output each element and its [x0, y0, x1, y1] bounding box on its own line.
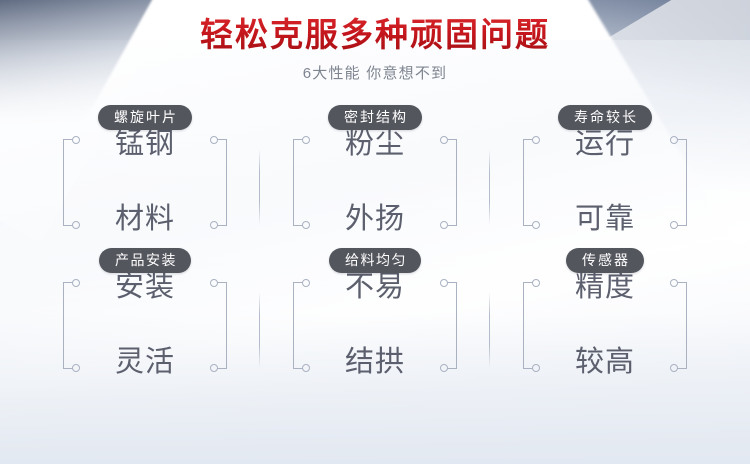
feature-badge-4: 产品安装: [99, 248, 191, 273]
bracket-right-icon: [439, 279, 457, 371]
feature-badge-5: 给料均匀: [329, 248, 421, 273]
header: 轻松克服多种顽固问题 6大性能 你意想不到: [0, 0, 750, 83]
feature-text-6-line2: 较高: [575, 344, 635, 382]
bracket-left-icon: [63, 279, 81, 371]
feature-text-6-line1: 精度: [575, 269, 635, 307]
feature-card-2: 密封结构 粉尘 外扬: [260, 105, 490, 248]
bracket-right-icon: [209, 136, 227, 228]
feature-card-5: 给料均匀 不易 结拱: [260, 248, 490, 391]
bracket-right-icon: [209, 279, 227, 371]
bracket-right-icon: [439, 136, 457, 228]
feature-text-4-line1: 安装: [115, 269, 175, 307]
feature-badge-6: 传感器: [566, 248, 644, 273]
bracket-right-icon: [669, 279, 687, 371]
page-title: 轻松克服多种顽固问题: [0, 14, 750, 55]
feature-badge-3: 寿命较长: [558, 105, 652, 130]
feature-text-4-line2: 灵活: [115, 344, 175, 382]
bracket-left-icon: [63, 136, 81, 228]
bracket-frame-6: 精度 较高: [523, 279, 687, 371]
feature-card-4: 产品安装 安装 灵活: [30, 248, 260, 391]
feature-grid: 螺旋叶片 锰钢 材料 密封结构: [30, 105, 720, 391]
feature-badge-1: 螺旋叶片: [98, 105, 192, 130]
page-subtitle: 6大性能 你意想不到: [0, 62, 750, 83]
bracket-left-icon: [523, 279, 541, 371]
bracket-right-icon: [669, 136, 687, 228]
bracket-frame-5: 不易 结拱: [293, 279, 457, 371]
feature-card-1: 螺旋叶片 锰钢 材料: [30, 105, 260, 248]
bracket-frame-3: 运行 可靠: [523, 136, 687, 228]
bracket-left-icon: [523, 136, 541, 228]
feature-text-1-line1: 锰钢: [115, 126, 175, 164]
promo-banner: 轻松克服多种顽固问题 6大性能 你意想不到 螺旋叶片 锰钢 材料: [0, 0, 750, 464]
bracket-left-icon: [293, 136, 311, 228]
feature-card-3: 寿命较长 运行 可靠: [490, 105, 720, 248]
bracket-frame-4: 安装 灵活: [63, 279, 227, 371]
feature-text-3-line1: 运行: [575, 126, 635, 164]
bracket-left-icon: [293, 279, 311, 371]
bracket-frame-2: 粉尘 外扬: [293, 136, 457, 228]
feature-text-5-line2: 结拱: [345, 344, 405, 382]
bracket-frame-1: 锰钢 材料: [63, 136, 227, 228]
feature-badge-2: 密封结构: [328, 105, 422, 130]
feature-text-2-line1: 粉尘: [345, 126, 405, 164]
feature-text-5-line1: 不易: [345, 269, 405, 307]
feature-card-6: 传感器 精度 较高: [490, 248, 720, 391]
